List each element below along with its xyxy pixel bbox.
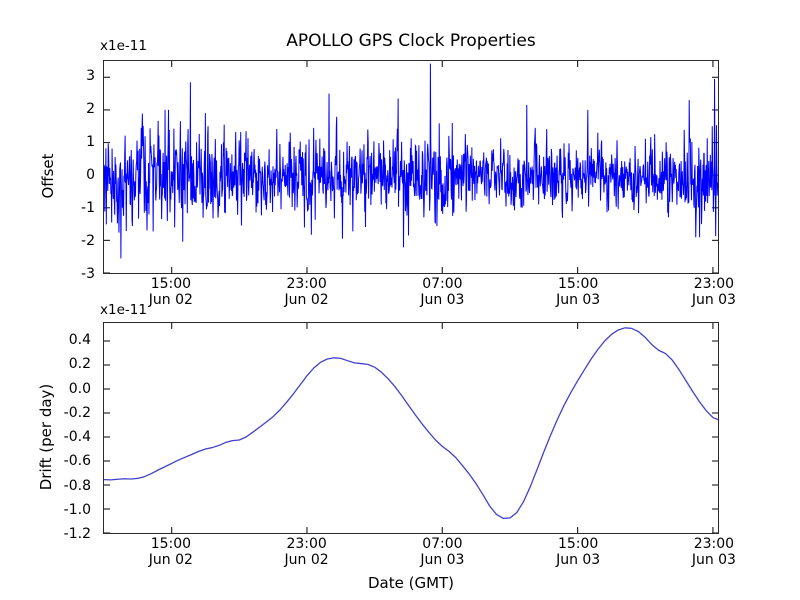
offset-xtick-2: 07:00Jun 03 <box>397 276 487 308</box>
offset-ytick-4: -1 <box>81 200 95 216</box>
drift-xtick-date-3: Jun 03 <box>533 552 623 568</box>
drift-xtick-time-4: 23:00 <box>669 536 759 552</box>
offset-y-axis-title: Offset <box>39 116 57 236</box>
drift-ytick-8: -1.2 <box>64 526 91 542</box>
drift-ytick-3: -0.2 <box>64 405 91 421</box>
offset-ytick-0: 3 <box>86 68 95 84</box>
drift-ytick-4: -0.4 <box>64 429 91 445</box>
drift-xtick-date-2: Jun 03 <box>397 552 487 568</box>
offset-xtick-time-3: 15:00 <box>533 276 623 292</box>
drift-xtick-date-0: Jun 02 <box>126 552 216 568</box>
offset-xtick-time-1: 23:00 <box>262 276 352 292</box>
drift-ytick-7: -1.0 <box>64 502 91 518</box>
offset-xtick-date-1: Jun 02 <box>262 292 352 308</box>
offset-xtick-date-2: Jun 03 <box>397 292 487 308</box>
drift-xtick-time-3: 15:00 <box>533 536 623 552</box>
drift-ytick-5: -0.6 <box>64 453 91 469</box>
drift-xtick-time-1: 23:00 <box>262 536 352 552</box>
offset-axes <box>103 60 719 274</box>
drift-ytick-1: 0.2 <box>69 356 91 372</box>
drift-data-line <box>104 328 718 519</box>
offset-xtick-time-2: 07:00 <box>397 276 487 292</box>
drift-y-axis-title: Drift (per day) <box>37 347 55 527</box>
figure-title: APOLLO GPS Clock Properties <box>103 31 719 51</box>
offset-ytick-6: -3 <box>81 266 95 282</box>
drift-xtick-3: 15:00Jun 03 <box>533 536 623 568</box>
matplotlib-figure: APOLLO GPS Clock Properties x1e-11 3210-… <box>0 0 800 600</box>
offset-xtick-time-0: 15:00 <box>126 276 216 292</box>
drift-xtick-4: 23:00Jun 03 <box>669 536 759 568</box>
offset-exponent-label: x1e-11 <box>100 38 147 54</box>
drift-xtick-2: 07:00Jun 03 <box>397 536 487 568</box>
drift-plot-area <box>104 323 718 533</box>
offset-xtick-time-4: 23:00 <box>669 276 759 292</box>
offset-ytick-1: 2 <box>86 101 95 117</box>
offset-plot-area <box>104 61 718 273</box>
drift-xtick-0: 15:00Jun 02 <box>126 536 216 568</box>
drift-ytick-0: 0.4 <box>69 332 91 348</box>
offset-xtick-date-3: Jun 03 <box>533 292 623 308</box>
drift-axes <box>103 322 719 534</box>
drift-exponent-label: x1e-11 <box>100 302 147 318</box>
offset-data-line <box>104 64 718 259</box>
offset-xtick-1: 23:00Jun 02 <box>262 276 352 308</box>
drift-xtick-date-4: Jun 03 <box>669 552 759 568</box>
offset-ytick-5: -2 <box>81 233 95 249</box>
offset-ytick-3: 0 <box>86 167 95 183</box>
drift-ytick-2: 0.0 <box>69 381 91 397</box>
x-axis-title: Date (GMT) <box>103 574 719 592</box>
drift-xtick-date-1: Jun 02 <box>262 552 352 568</box>
drift-xtick-time-0: 15:00 <box>126 536 216 552</box>
drift-xtick-1: 23:00Jun 02 <box>262 536 352 568</box>
offset-xtick-3: 15:00Jun 03 <box>533 276 623 308</box>
drift-xtick-time-2: 07:00 <box>397 536 487 552</box>
offset-xtick-date-4: Jun 03 <box>669 292 759 308</box>
drift-ytick-6: -0.8 <box>64 478 91 494</box>
offset-xtick-4: 23:00Jun 03 <box>669 276 759 308</box>
offset-ytick-2: 1 <box>86 134 95 150</box>
